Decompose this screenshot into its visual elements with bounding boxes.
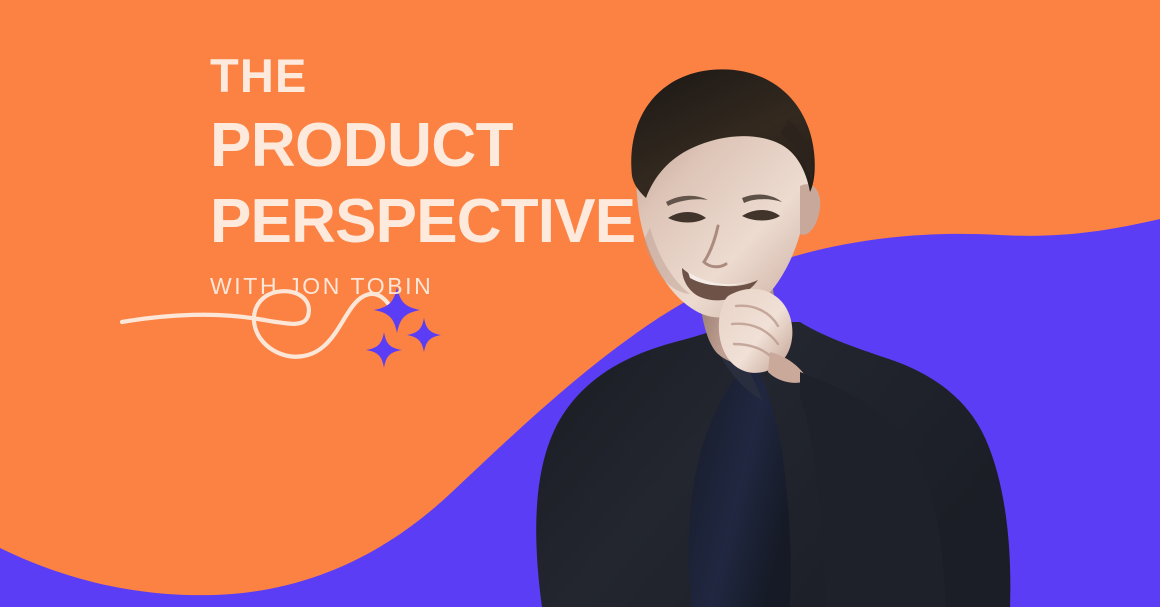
title-line-perspective: PERSPECTIVE — [210, 191, 670, 253]
title-line-the: THE — [210, 52, 670, 99]
title-line-product: PRODUCT — [210, 115, 670, 177]
podcast-cover-artwork: THE PRODUCT PERSPECTIVE WITH JON TOBIN — [0, 0, 1160, 607]
sparkle-small-icon — [366, 332, 402, 368]
title-host-line: WITH JON TOBIN — [210, 275, 670, 298]
title-block: THE PRODUCT PERSPECTIVE WITH JON TOBIN — [210, 52, 670, 298]
portrait-ear — [800, 184, 820, 235]
sparkle-medium-icon — [407, 318, 441, 352]
